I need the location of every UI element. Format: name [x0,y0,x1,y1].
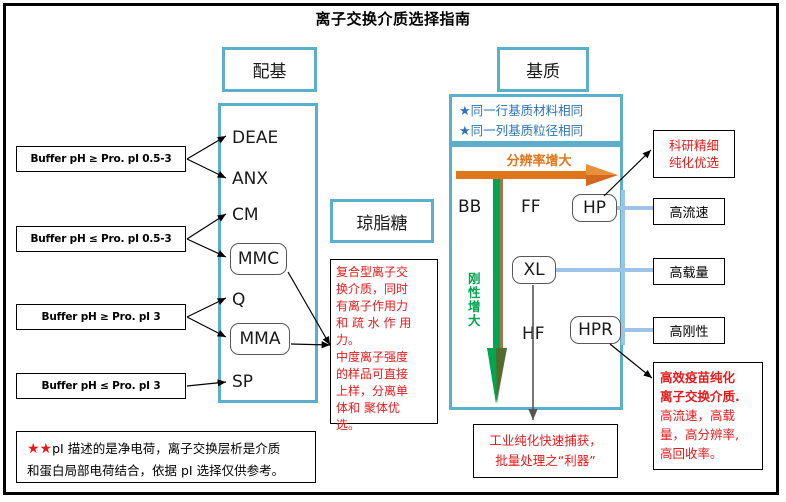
ligand-item-mmc-label: MMC [238,249,279,269]
matrix-legend-box: ★同一行基质材料相同 ★同一列基质粒径相同 [449,94,623,144]
outcome-box-high-rigidity-label: 高刚性 [669,321,708,340]
vaccine-body-1: 高流速，高载 [660,406,756,425]
buffer-condition-2[interactable]: Buffer pH ≤ Pro. pI 0.5-3 [16,226,186,252]
outcome-box-research-line2: 纯化优选 [669,154,719,171]
industrial-capture-line2: 批量处理之“利器” [495,451,595,471]
vaccine-headline-1: 高效疫苗纯化 [660,368,756,387]
buffer-condition-3-label: Buffer pH ≥ Pro. pI 3 [42,311,161,323]
outcome-box-high-rigidity: 高刚性 [653,317,725,344]
outcome-box-high-flow: 高流速 [653,198,725,225]
buffer-condition-1-label: Buffer pH ≥ Pro. pI 0.5-3 [30,153,171,165]
outcome-box-research: 科研精细 纯化优选 [653,130,735,178]
pi-note-line1-text: pI 描述的是净电荷，离子交换层析是介质 [52,441,280,456]
buffer-condition-3[interactable]: Buffer pH ≥ Pro. pI 3 [16,304,186,330]
vaccine-purification-box: 高效疫苗纯化 离子交换介质. 高流速，高载 量，高分辨率, 高回收率。 [653,362,763,470]
ligand-item-sp: SP [232,372,253,392]
mixed-mode-line-2: 换介质，同时 [336,281,432,298]
pi-note-line1: ★★pI 描述的是净电荷，离子交换层析是介质 [27,438,305,460]
industrial-capture-box: 工业纯化快速捕获， 批量处理之“利器” [473,424,618,478]
mixed-mode-line-3: 有离子作用力 [336,298,432,315]
buffer-condition-1[interactable]: Buffer pH ≥ Pro. pI 0.5-3 [16,146,186,172]
star-icon: ★ [459,124,471,139]
ligand-item-deae: DEAE [232,128,278,148]
star-icon: ★ [459,104,471,119]
agarose-header-box: 琼脂糖 [330,199,434,243]
ligand-item-anx: ANX [232,169,268,189]
ligand-item-mmc[interactable]: MMC [230,243,287,275]
matrix-grade-xl[interactable]: XL [512,256,556,284]
outcome-box-high-flow-label: 高流速 [669,202,708,221]
vaccine-body-2: 量，高分辨率, [660,425,756,444]
mixed-mode-line-1: 复合型离子交 [336,264,432,281]
ligand-item-q: Q [232,290,245,310]
matrix-grade-ff: FF [521,197,541,217]
resolution-axis-caption: 分辨率增大 [469,150,609,169]
mixed-mode-line-8: 上样，分离单 [336,383,432,400]
mixed-mode-line-9: 体和 聚体优 [336,400,432,417]
buffer-condition-4[interactable]: Buffer pH ≤ Pro. pI 3 [16,373,186,399]
page-title: 离子交换介质选择指南 [0,8,786,29]
buffer-condition-2-label: Buffer pH ≤ Pro. pI 0.5-3 [30,233,171,245]
matrix-legend-line-1: ★同一行基质材料相同 [459,101,613,121]
ligand-item-mma-label: MMA [240,329,281,349]
matrix-grade-hp-label: HP [583,198,606,218]
outcome-box-high-capacity-label: 高载量 [669,262,708,281]
pi-note-box: ★★pI 描述的是净电荷，离子交换层析是介质 和蛋白局部电荷结合，依据 pI 选… [16,431,316,483]
agarose-header-label: 琼脂糖 [357,209,408,234]
matrix-grade-xl-label: XL [523,260,544,280]
matrix-legend-line-2: ★同一列基质粒径相同 [459,121,613,141]
vaccine-body-3: 高回收率。 [660,444,756,463]
matrix-grade-hpr[interactable]: HPR [570,316,621,344]
mixed-mode-line-7: 的样品可直接 [336,366,432,383]
buffer-condition-4-label: Buffer pH ≤ Pro. pI 3 [42,380,161,392]
matrix-header-box: 基质 [497,47,589,92]
mixed-mode-line-5: 力。 [336,332,432,349]
matrix-grade-hpr-label: HPR [578,320,613,340]
ligand-item-mma[interactable]: MMA [230,323,290,355]
ligand-header-box: 配基 [222,47,317,92]
matrix-legend-line-2-text: 同一列基质粒径相同 [471,123,584,138]
mixed-mode-line-4: 和 疏 水 作 用 [336,315,432,332]
mixed-mode-note-box: 复合型离子交 换介质，同时 有离子作用力 和 疏 水 作 用 力。 中度离子强度… [330,259,438,424]
matrix-header-label: 基质 [526,57,560,82]
mixed-mode-line-6: 中度离子强度 [336,349,432,366]
matrix-grade-bb: BB [458,197,481,217]
mixed-mode-line-10: 选。 [336,417,432,434]
matrix-grade-hp[interactable]: HP [572,194,617,222]
star-icon: ★★ [27,441,52,457]
matrix-grade-hf: HF [522,324,545,344]
diagram-canvas: 离子交换介质选择指南 配基 DEAE ANX CM MMC Q MMA SP B… [0,0,786,502]
industrial-capture-line1: 工业纯化快速捕获， [489,431,602,451]
outcome-box-research-line1: 科研精细 [669,137,719,154]
matrix-legend-line-1-text: 同一行基质材料相同 [471,103,584,118]
pi-note-line2: 和蛋白局部电荷结合，依据 pI 选择仅供参考。 [27,460,305,481]
rigidity-axis-caption: 刚性增大 [468,272,482,328]
ligand-item-cm: CM [232,205,259,225]
vaccine-headline-2: 离子交换介质. [660,387,756,406]
ligand-header-label: 配基 [253,57,287,82]
outcome-box-high-capacity: 高载量 [653,258,725,285]
